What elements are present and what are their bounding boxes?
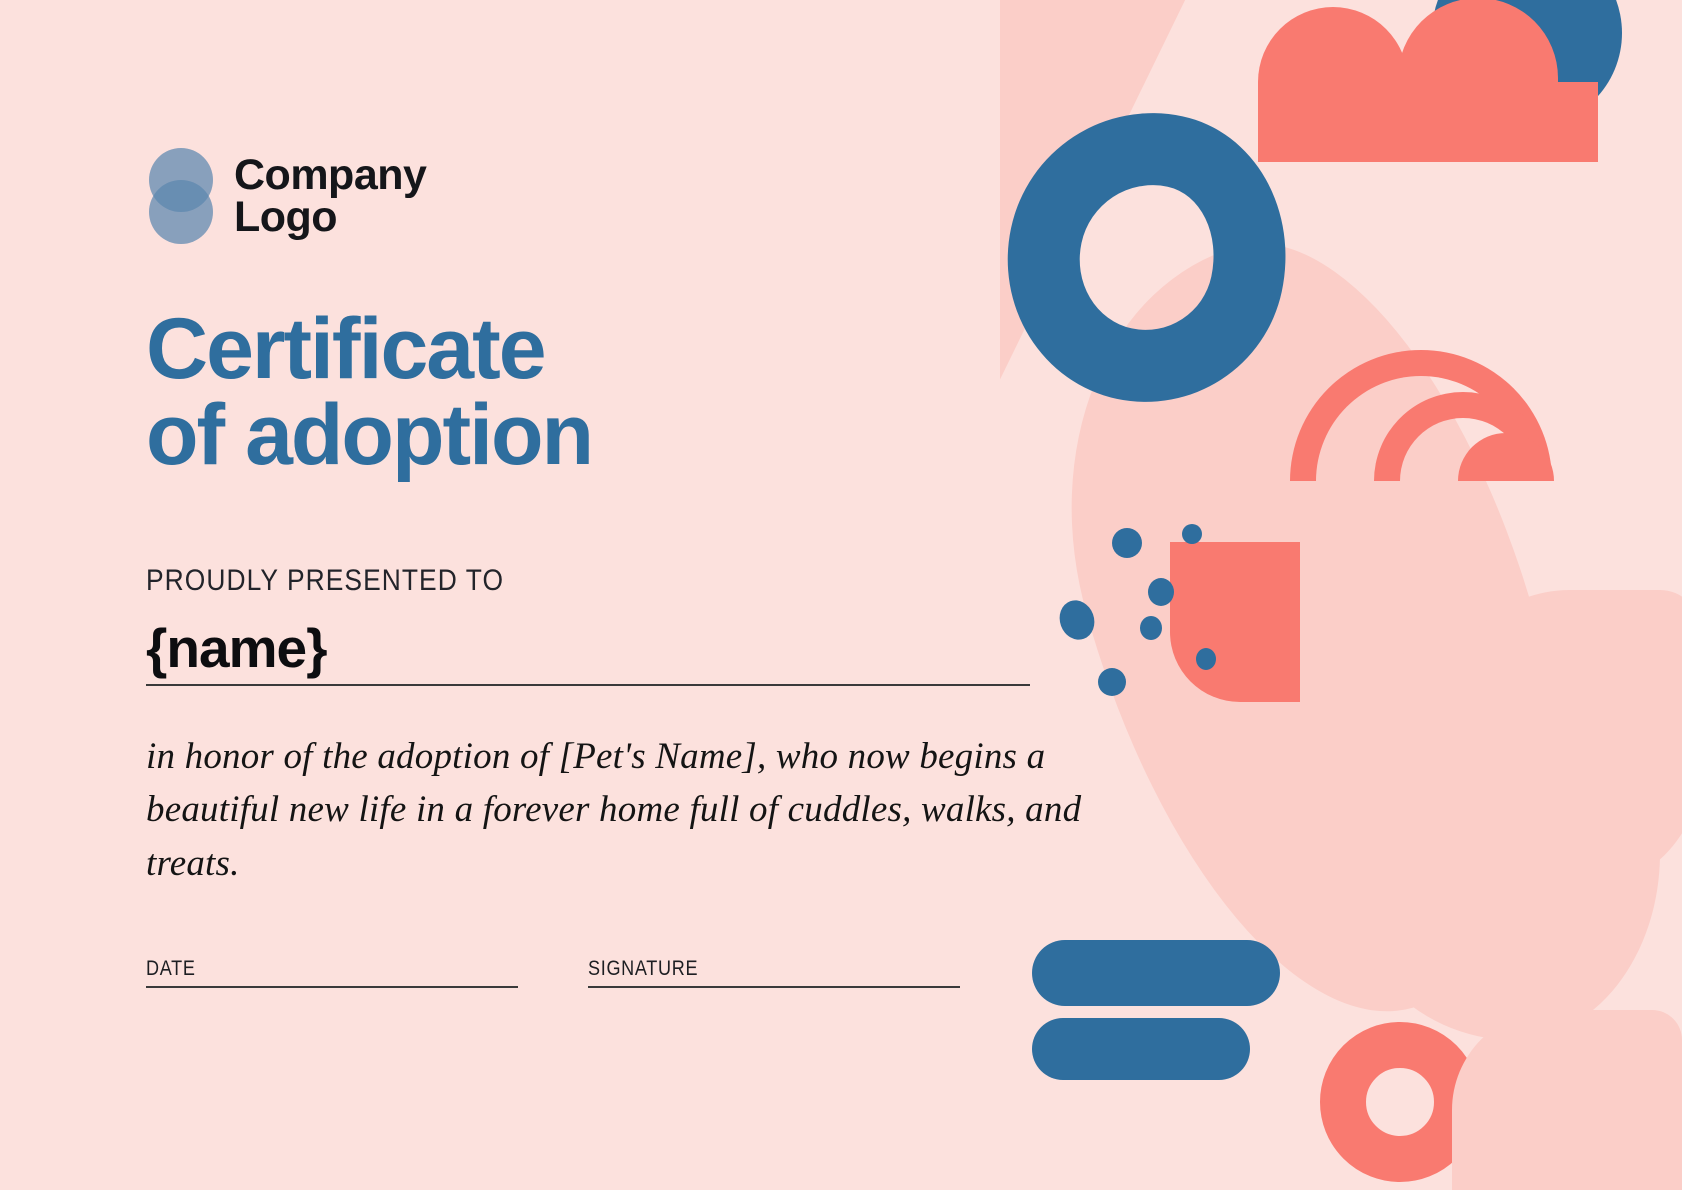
blue-pill-shape (1032, 940, 1280, 1006)
citation-line1: in honor of the adoption of [Pet's Name]… (146, 730, 1126, 784)
recipient-name-field[interactable]: {name} (146, 620, 1030, 686)
blue-dot-icon (1054, 595, 1100, 644)
date-label: DATE (146, 957, 466, 981)
page-title-line1: Certificate (146, 301, 545, 397)
coral-cloud-base-shape (1258, 82, 1598, 162)
logo-text-line1: Company (234, 154, 426, 196)
blue-ring-icon (1000, 86, 1313, 427)
blue-dot-icon (1112, 528, 1142, 558)
coral-ring-icon (1320, 1022, 1480, 1182)
blue-pill-shape (1032, 1018, 1250, 1080)
coral-rainbow-arc-middle-icon (1374, 392, 1552, 481)
presented-to-label: PROUDLY PRESENTED TO (146, 564, 862, 598)
coral-cloud-bump-left-shape (1258, 7, 1408, 157)
page-title: Certificate of adoption (146, 306, 846, 478)
signature-label: SIGNATURE (588, 957, 908, 981)
pale-blob-main-shape (1001, 196, 1629, 1064)
logo-text: Company Logo (234, 154, 426, 238)
pale-blob-bottom-shape (1452, 1010, 1682, 1190)
citation-text: in honor of the adoption of [Pet's Name]… (146, 730, 1126, 891)
date-line[interactable] (146, 986, 518, 988)
blue-dot-icon (1140, 616, 1162, 640)
signature-row: DATE SIGNATURE (146, 957, 960, 988)
coral-cloud-bump-right-shape (1398, 0, 1558, 158)
logo-circle-bottom-icon (149, 180, 213, 244)
blue-dot-icon (1098, 668, 1126, 696)
coral-rainbow-arc-outer-icon (1290, 350, 1552, 481)
recipient-name-value[interactable]: {name} (146, 620, 1030, 678)
coral-rainbow-arc-inner-icon (1458, 433, 1554, 481)
certificate-content: Company Logo Certificate of adoption PRO… (0, 0, 960, 988)
date-block[interactable]: DATE (146, 957, 518, 988)
citation-line2: beautiful new life in a forever home ful… (146, 783, 1126, 890)
blue-circle-icon (1432, 0, 1622, 128)
logo-text-line2: Logo (234, 196, 426, 238)
company-logo: Company Logo (146, 148, 960, 244)
coral-wedge-shape (1170, 542, 1300, 702)
blue-dot-icon (1148, 578, 1174, 606)
pale-blob-lower-shape (1330, 620, 1660, 1040)
certificate-canvas: Company Logo Certificate of adoption PRO… (0, 0, 1682, 1190)
decorative-artwork (1000, 0, 1682, 1190)
pale-blob-edge-shape (1440, 590, 1682, 890)
pale-diagonal-sweep-shape (1000, 0, 1199, 655)
logo-circles-icon (146, 148, 216, 244)
page-title-line2: of adoption (146, 392, 846, 478)
blue-dot-icon (1196, 648, 1216, 670)
signature-block[interactable]: SIGNATURE (588, 957, 960, 988)
signature-line[interactable] (588, 986, 960, 988)
blue-dot-icon (1182, 524, 1202, 544)
